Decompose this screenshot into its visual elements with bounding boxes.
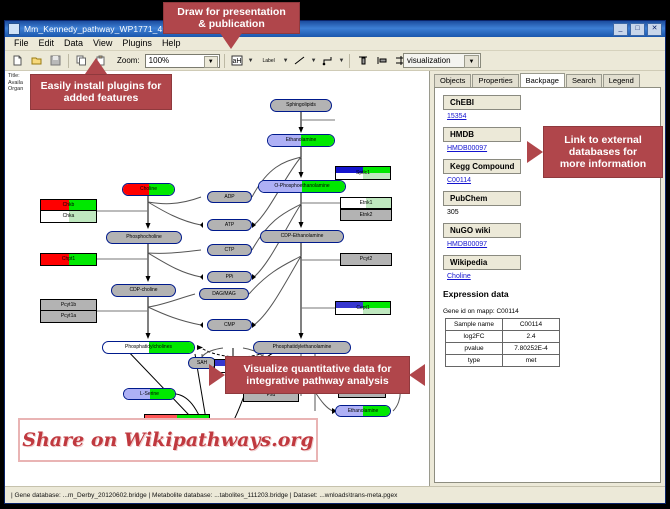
chevron-down-icon-visualization[interactable]: ▼	[464, 55, 479, 68]
callout-draw: Draw for presentation & publication	[163, 2, 300, 34]
connector-icon[interactable]	[320, 52, 337, 69]
node-label: Phosphatidylcholines	[125, 345, 172, 350]
node-cept1[interactable]: Cept1	[335, 301, 391, 315]
window-controls: _ □ ✕	[613, 23, 662, 36]
save-icon[interactable]	[47, 52, 64, 69]
cell-label: log2FC	[446, 331, 503, 343]
share-banner: Share on Wikipathways.org	[18, 418, 318, 462]
db-header-hmdb: HMDB	[443, 127, 521, 142]
callout-draw-arrow-icon	[220, 33, 242, 49]
node-chkb[interactable]: Chkb	[40, 199, 97, 211]
toolbar-separator-3	[349, 54, 350, 68]
callout-visualize-arrow-icon	[209, 364, 225, 386]
expression-table: Sample name C00114 log2FC 2.4 pvalue 7.8…	[445, 318, 560, 367]
menu-plugins[interactable]: Plugins	[117, 37, 157, 50]
node-label: ATP	[225, 223, 234, 228]
callout-links-line3: more information	[560, 158, 646, 170]
node-dag-mag[interactable]: DAG/MAG	[199, 288, 249, 300]
gene-id-on-mapp: Gene id on mapp: C00114	[443, 308, 660, 315]
menu-view[interactable]: View	[88, 37, 117, 50]
node-phosphatidylcholines[interactable]: Phosphatidylcholines	[102, 341, 195, 354]
node-label: Phosphatidylethanolamine	[273, 345, 332, 350]
tab-backpage[interactable]: Backpage	[520, 73, 565, 87]
callout-plugins-arrow-icon	[85, 58, 107, 74]
callout-links-arrow-icon	[527, 141, 543, 163]
node-label: Ethanolamine	[286, 138, 317, 143]
node-label: CMP	[224, 323, 235, 328]
visualization-value: visualization	[407, 56, 451, 65]
node-ppi[interactable]: PPi	[207, 271, 252, 283]
db-link-nugo[interactable]: HMDB00097	[447, 241, 660, 248]
chevron-down-icon-line[interactable]: ▼	[311, 58, 317, 64]
line-icon[interactable]	[292, 52, 309, 69]
visualization-select[interactable]: visualization ▼	[403, 53, 481, 68]
align-left-icon[interactable]	[373, 52, 390, 69]
table-row: log2FC 2.4	[446, 331, 560, 343]
callout-links-line2: databases for	[569, 146, 637, 158]
node-label: O-Phosphoethanolamine	[274, 184, 329, 189]
node-label: CDP-choline	[129, 288, 157, 293]
node-label: Pcyt2	[360, 257, 373, 262]
node-ethanolamine-bottom[interactable]: Ethanolamine	[335, 405, 391, 417]
callout-visualize: Visualize quantitative data for integrat…	[225, 356, 410, 394]
expression-data-heading: Expression data	[443, 289, 660, 299]
node-etnk1[interactable]: Etnk1	[340, 197, 392, 209]
menu-file[interactable]: File	[9, 37, 34, 50]
node-sptlc1[interactable]: Sptlc1	[335, 166, 391, 180]
text-label-icon[interactable]: aH	[229, 52, 246, 69]
node-label: Etnk1	[360, 201, 373, 206]
screenshot-root: Mm_Kennedy_pathway_WP1771_45176.gpml _ □…	[0, 0, 670, 509]
db-header-wikipedia: Wikipedia	[443, 255, 521, 270]
chevron-down-icon-label[interactable]: ▼	[248, 58, 254, 64]
node-adp[interactable]: ADP	[207, 191, 252, 203]
callout-links-line1: Link to external	[564, 134, 642, 146]
cell-value: met	[503, 355, 560, 367]
node-atp[interactable]: ATP	[207, 219, 252, 231]
callout-plugins-line2: added features	[64, 92, 139, 104]
node-ctp[interactable]: CTP	[207, 244, 252, 256]
node-label: Chpt1	[62, 257, 75, 262]
node-label: L-Serine	[140, 392, 159, 397]
callout-links: Link to external databases for more info…	[543, 126, 663, 178]
share-text: Share on Wikipathways.org	[22, 429, 313, 451]
node-pcyt2[interactable]: Pcyt2	[340, 253, 392, 266]
node-label: Cept1	[356, 306, 369, 311]
pathway-info-organism: Organ	[8, 86, 23, 93]
side-panel-tabs: Objects Properties Backpage Search Legen…	[434, 74, 661, 88]
tab-properties[interactable]: Properties	[472, 74, 518, 87]
db-value-pubchem: 305	[447, 209, 660, 216]
node-label: Etnk2	[360, 213, 373, 218]
status-text: | Gene database: ...m_Derby_20120602.bri…	[5, 492, 397, 499]
node-label: Sphingolipids	[286, 103, 316, 108]
toolbar-separator-2	[224, 54, 225, 68]
tab-objects[interactable]: Objects	[434, 74, 471, 87]
cell-label: type	[446, 355, 503, 367]
toolbar-separator	[68, 54, 69, 68]
cell-label: pvalue	[446, 343, 503, 355]
menu-edit[interactable]: Edit	[34, 37, 60, 50]
db-header-nugo: NuGO wiki	[443, 223, 521, 238]
menu-help[interactable]: Help	[157, 37, 186, 50]
minimize-button[interactable]: _	[613, 23, 628, 36]
maximize-button[interactable]: □	[630, 23, 645, 36]
db-link-chebi[interactable]: 15354	[447, 113, 660, 120]
callout-visualize-arrow-right-icon	[409, 364, 425, 386]
title-bar: Mm_Kennedy_pathway_WP1771_45176.gpml _ □…	[5, 21, 665, 37]
db-link-kegg[interactable]: C00114	[447, 177, 660, 184]
cell-value: 7.80252E-4	[503, 343, 560, 355]
zoom-label: Zoom:	[117, 56, 140, 65]
svg-text:aH: aH	[233, 58, 242, 65]
node-cdp-ethanolamine[interactable]: CDP-Ethanolamine	[260, 230, 344, 243]
menu-data[interactable]: Data	[59, 37, 88, 50]
node-label: SAH	[197, 361, 207, 366]
table-row: Sample name C00114	[446, 319, 560, 331]
open-folder-icon[interactable]	[28, 52, 45, 69]
node-chka[interactable]: Chka	[40, 211, 97, 223]
node-label: Chka	[63, 214, 75, 219]
node-label: Pcyt1a	[61, 314, 76, 319]
node-phosphocholine[interactable]: Phosphocholine	[106, 231, 182, 244]
cell-value: C00114	[503, 319, 560, 331]
db-header-pubchem: PubChem	[443, 191, 521, 206]
node-pcyt1a[interactable]: Pcyt1a	[40, 311, 97, 323]
cell-value: 2.4	[503, 331, 560, 343]
zoom-value: 100%	[149, 56, 169, 65]
node-label: Choline	[140, 187, 157, 192]
callout-plugins-line1: Easily install plugins for	[41, 80, 162, 92]
node-label: CDP-Ethanolamine	[281, 234, 324, 239]
chevron-down-icon-label2[interactable]: ▼	[283, 58, 289, 64]
node-chpt1[interactable]: Chpt1	[40, 253, 97, 266]
node-cmp[interactable]: CMP	[207, 319, 252, 331]
chevron-down-icon[interactable]: ▼	[204, 56, 218, 68]
menu-bar: File Edit Data View Plugins Help	[5, 37, 665, 51]
node-label: Ethanolamine	[348, 409, 379, 414]
new-file-icon[interactable]	[9, 52, 26, 69]
table-row: pvalue 7.80252E-4	[446, 343, 560, 355]
node-etnk2[interactable]: Etnk2	[340, 209, 392, 221]
status-bar: | Gene database: ...m_Derby_20120602.bri…	[5, 486, 665, 503]
db-header-kegg: Kegg Compound	[443, 159, 521, 174]
tab-legend[interactable]: Legend	[603, 74, 640, 87]
node-label: DAG/MAG	[212, 292, 236, 297]
db-link-wikipedia[interactable]: Choline	[447, 273, 660, 280]
db-header-chebi: ChEBI	[443, 95, 521, 110]
table-row: type met	[446, 355, 560, 367]
chevron-down-icon-connector[interactable]: ▼	[339, 58, 345, 64]
node-label: Sptlc1	[356, 171, 370, 176]
node-label: Chkb	[63, 203, 75, 208]
node-pcyt1b[interactable]: Pcyt1b	[40, 299, 97, 311]
node-sphingolipids[interactable]: Sphingolipids	[270, 99, 332, 112]
callout-visualize-line1: Visualize quantitative data for	[243, 363, 391, 375]
node-label: PPi	[226, 275, 234, 280]
node-cdp-choline[interactable]: CDP-choline	[111, 284, 176, 297]
callout-draw-line1: Draw for presentation	[177, 6, 286, 18]
callout-draw-line2: & publication	[198, 18, 265, 30]
tab-search[interactable]: Search	[566, 74, 602, 87]
label-tool-icon[interactable]: Label	[257, 52, 281, 69]
node-ethanolamine-top[interactable]: Ethanolamine	[267, 134, 335, 147]
node-l-serine-left[interactable]: L-Serine	[123, 388, 176, 400]
close-button[interactable]: ✕	[647, 23, 662, 36]
node-ophosphoethanolamine[interactable]: O-Phosphoethanolamine	[258, 180, 346, 193]
align-top-icon[interactable]	[354, 52, 371, 69]
node-label: Pcyt1b	[61, 303, 76, 308]
cell-label: Sample name	[446, 319, 503, 331]
callout-plugins: Easily install plugins for added feature…	[30, 74, 172, 110]
node-label: ADP	[224, 195, 234, 200]
zoom-select[interactable]: 100% ▼	[145, 54, 220, 68]
callout-visualize-line2: integrative pathway analysis	[246, 375, 388, 387]
application-icon	[8, 23, 20, 35]
node-choline-top[interactable]: Choline	[122, 183, 175, 196]
node-label: CTP	[225, 248, 235, 253]
node-label: Phosphocholine	[126, 235, 162, 240]
pathway-info: Title: Availa Organ	[8, 73, 23, 93]
node-phosphatidylethanolamine[interactable]: Phosphatidylethanolamine	[253, 341, 351, 354]
